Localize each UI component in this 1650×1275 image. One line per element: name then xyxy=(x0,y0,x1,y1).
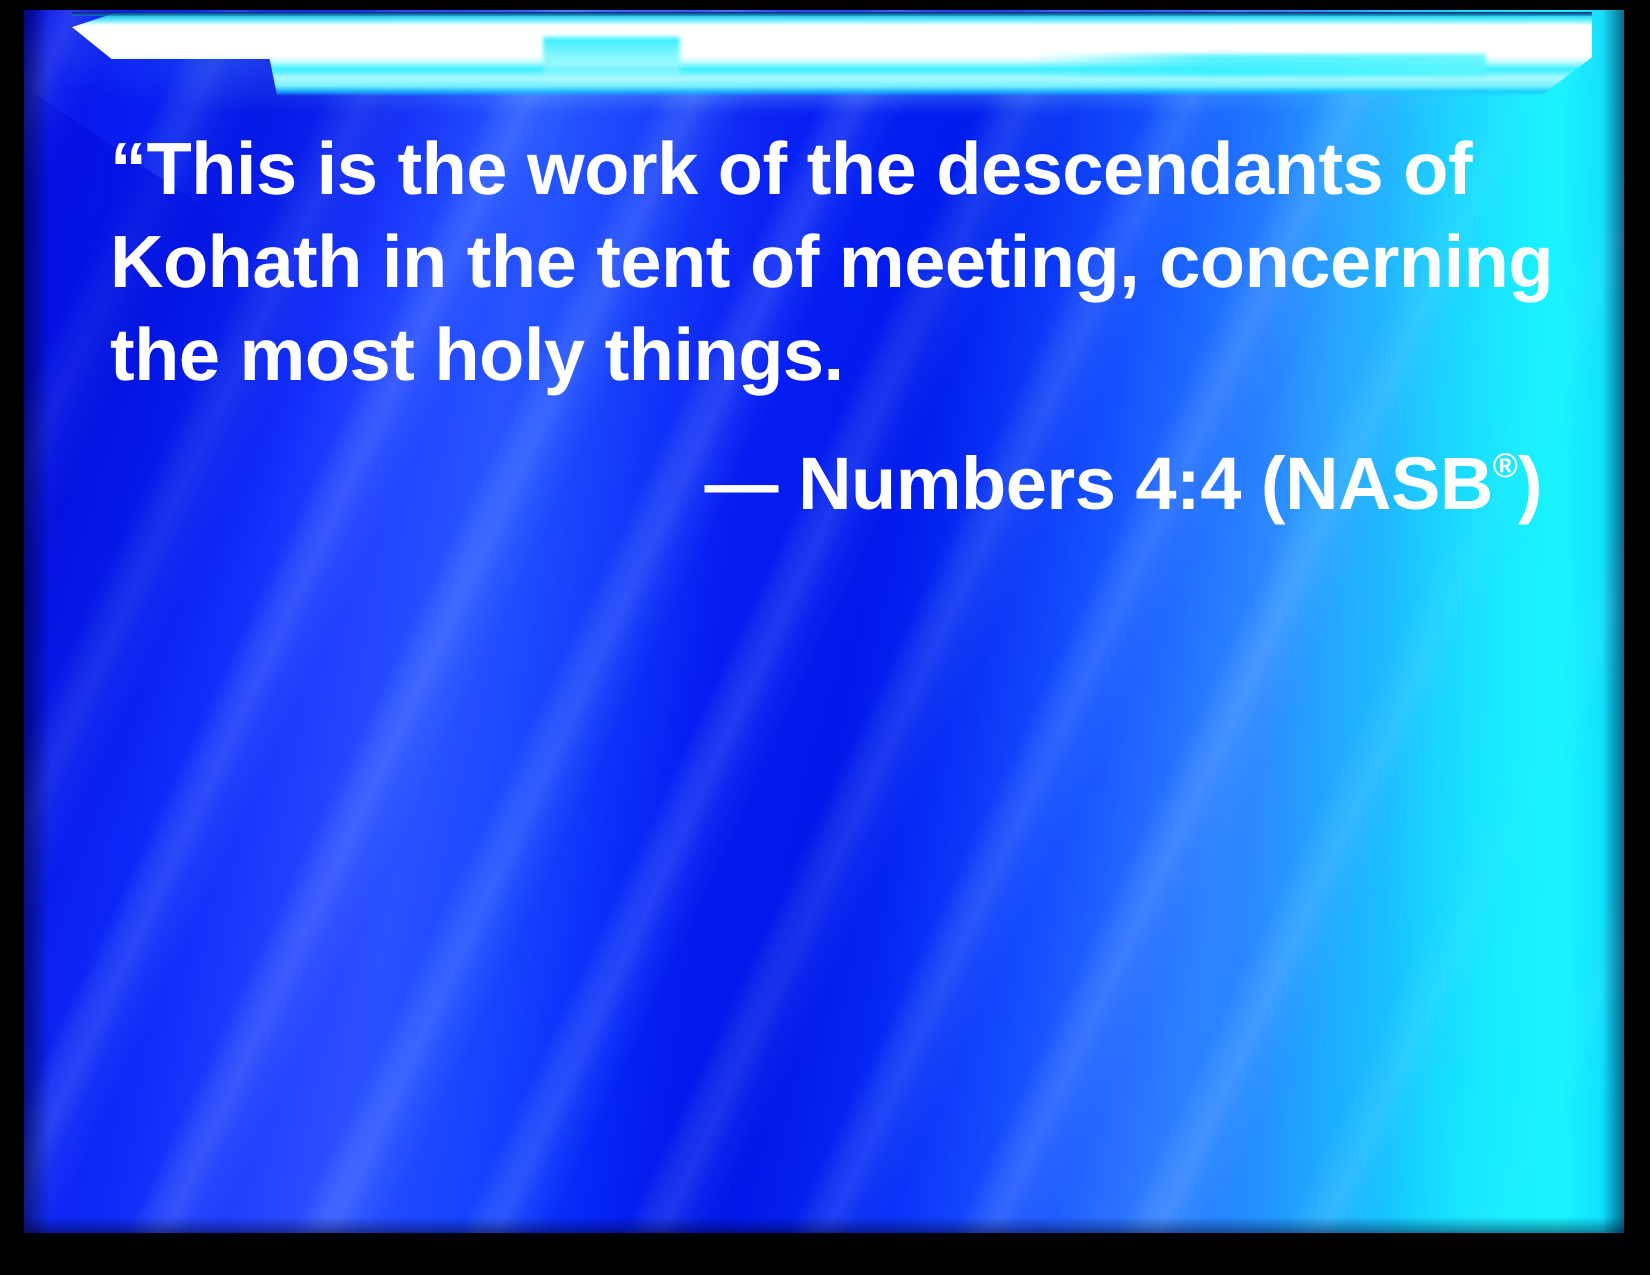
verse-line-3: the most holy things. xyxy=(110,308,1550,401)
verse-text-block: “This is the work of the descendants of … xyxy=(110,122,1550,526)
verse-line-1: “This is the work of the descendants of xyxy=(110,122,1550,215)
verse-line-2: Kohath in the tent of meeting, concernin… xyxy=(110,215,1550,308)
registered-trademark-icon: ® xyxy=(1493,447,1518,485)
attribution-spacer-2 xyxy=(1241,442,1261,525)
verse-attribution: — Numbers 4:4 (NASB®) xyxy=(110,424,1550,526)
attribution-open-paren: ( xyxy=(1261,442,1285,525)
attribution-reference: Numbers 4:4 xyxy=(798,442,1241,525)
attribution-translation: NASB xyxy=(1285,442,1493,525)
attribution-spacer xyxy=(778,442,798,525)
attribution-close-paren: ) xyxy=(1518,442,1542,525)
attribution-em-dash: — xyxy=(705,442,779,525)
scripture-slide: “This is the work of the descendants of … xyxy=(0,0,1650,1275)
slide-canvas: “This is the work of the descendants of … xyxy=(24,10,1624,1233)
